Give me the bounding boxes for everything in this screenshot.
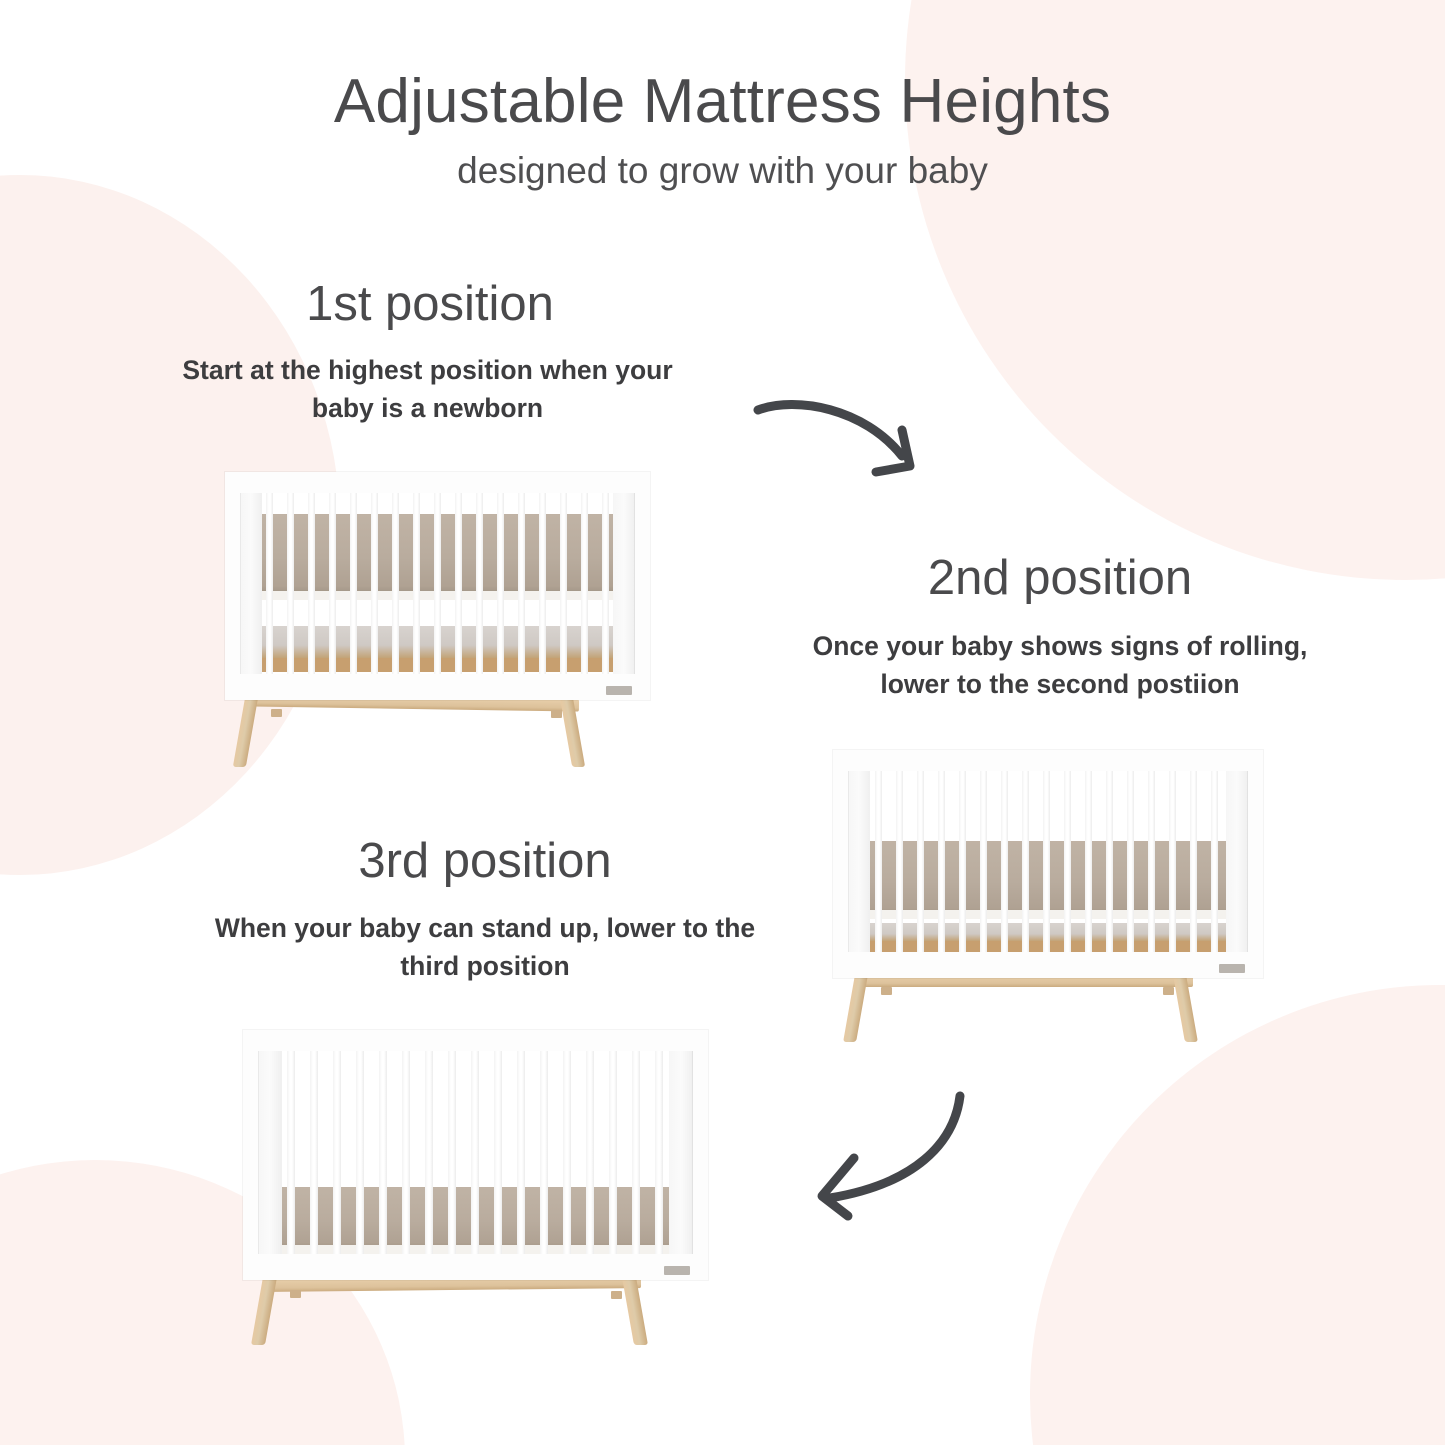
crib-1-right-end-panel <box>613 493 635 674</box>
crib-1-interior <box>240 493 635 674</box>
page-title: Adjustable Mattress Heights <box>0 68 1445 136</box>
crib-1-mattress <box>240 514 635 593</box>
position-2-description: Once your baby shows signs of rolling, l… <box>775 628 1345 703</box>
crib-1-brand-tag <box>606 686 632 695</box>
crib-2-mattress <box>848 841 1248 915</box>
arrow-first-to-second-position <box>752 378 948 498</box>
crib-2-base-board <box>848 941 1248 952</box>
crib-1-body <box>225 472 650 700</box>
crib-2-interior <box>848 771 1248 952</box>
crib-illustration-third-position <box>243 1030 708 1345</box>
infographic-canvas: Adjustable Mattress Heights designed to … <box>0 0 1445 1445</box>
crib-3-right-end-panel <box>669 1051 693 1254</box>
crib-2-right-end-panel <box>1226 771 1248 952</box>
crib-1-support-platform <box>240 626 635 658</box>
position-3-heading: 3rd position <box>225 833 745 889</box>
crib-2-legs <box>833 972 1263 1042</box>
crib-1-legs <box>225 694 650 767</box>
crib-illustration-second-position <box>833 750 1263 1042</box>
crib-2-left-end-panel <box>848 771 870 952</box>
crib-2-sheet-band <box>848 910 1248 919</box>
background-blob-bottom-right <box>1030 985 1445 1445</box>
crib-2-brand-tag <box>1219 964 1245 973</box>
crib-3-legs <box>243 1274 708 1345</box>
crib-3-interior <box>258 1051 693 1254</box>
crib-3-body <box>243 1030 708 1280</box>
crib-illustration-first-position <box>225 472 650 767</box>
position-1-heading: 1st position <box>180 276 680 332</box>
crib-1-left-end-panel <box>240 493 262 674</box>
crib-3-brand-tag <box>664 1266 690 1275</box>
crib-2-support-platform <box>848 923 1248 941</box>
page-subtitle: designed to grow with your baby <box>0 148 1445 194</box>
arrow-second-to-third-position <box>782 1092 982 1222</box>
crib-3-left-end-panel <box>258 1051 282 1254</box>
crib-2-body <box>833 750 1263 978</box>
crib-3-sheet-band <box>258 1245 693 1254</box>
position-3-description: When your baby can stand up, lower to th… <box>200 910 770 985</box>
position-2-heading: 2nd position <box>790 550 1330 606</box>
crib-1-base-board <box>240 658 635 672</box>
crib-1-sheet-band <box>240 591 635 600</box>
position-1-description: Start at the highest position when your … <box>155 352 700 427</box>
crib-3-mattress <box>258 1187 693 1249</box>
